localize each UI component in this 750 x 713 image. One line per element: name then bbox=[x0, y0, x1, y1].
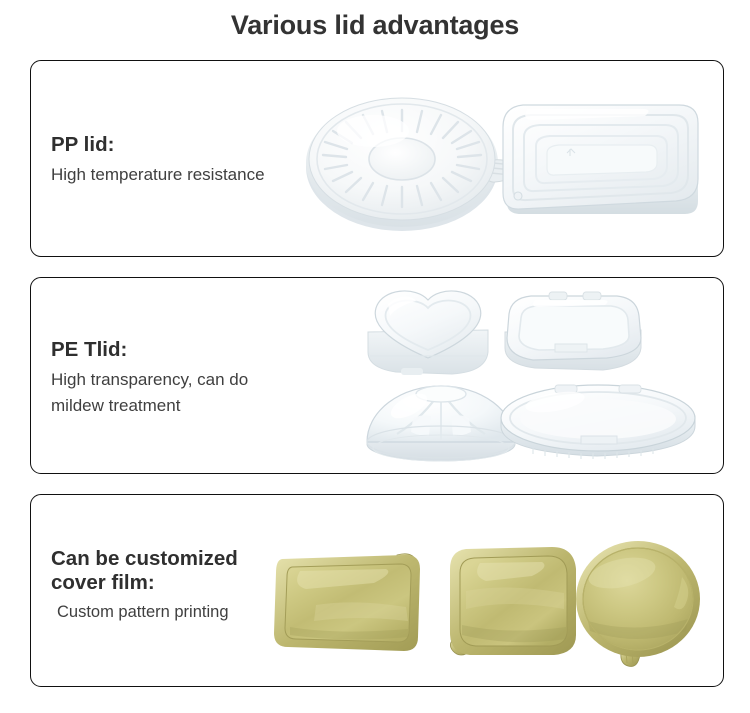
product-dome-cup-lid bbox=[351, 372, 531, 467]
card-pe-t-lid: PE Tlid: High transparency, can do milde… bbox=[30, 277, 724, 474]
card-pp-lid-text: PP lid: High temperature resistance bbox=[51, 133, 341, 188]
card-custom-cover-film-text: Can be customized cover film: Custom pat… bbox=[51, 547, 341, 625]
product-rectangular-pp-lid bbox=[493, 83, 708, 238]
card-pe-t-lid-text: PE Tlid: High transparency, can do milde… bbox=[51, 338, 341, 419]
card-custom-cover-film-heading: Can be customized cover film: bbox=[51, 547, 341, 595]
product-gold-foil-square-cover bbox=[436, 539, 591, 669]
card-pe-t-lid-heading: PE Tlid: bbox=[51, 338, 341, 362]
product-square-pet-lid bbox=[491, 286, 671, 386]
page-title: Various lid advantages bbox=[0, 10, 750, 41]
product-oval-flat-lid bbox=[493, 374, 708, 466]
card-custom-cover-film: Can be customized cover film: Custom pat… bbox=[30, 494, 724, 687]
product-heart-shaped-pet-lid bbox=[346, 284, 526, 384]
card-pp-lid-heading: PP lid: bbox=[51, 133, 341, 157]
card-custom-cover-film-body: Custom pattern printing bbox=[51, 600, 341, 626]
product-gold-foil-round-cover bbox=[566, 537, 716, 672]
card-pe-t-lid-body: High transparency, can do mildew treatme… bbox=[51, 367, 341, 420]
card-pp-lid-body: High temperature resistance bbox=[51, 162, 341, 188]
card-pp-lid: PP lid: High temperature resistance bbox=[30, 60, 724, 257]
